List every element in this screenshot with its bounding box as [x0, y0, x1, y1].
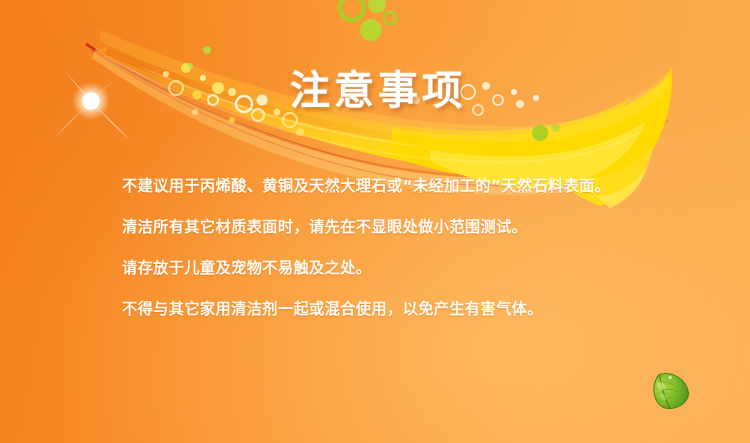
notice-list: 不建议用于丙烯酸、黄铜及天然大理石或“未经加工的”天然石料表面。 清洁所有其它材…	[122, 176, 682, 320]
banner-title: 注意事项	[290, 71, 466, 111]
notice-item-1: 不建议用于丙烯酸、黄铜及天然大理石或“未经加工的”天然石料表面。	[122, 176, 667, 197]
notice-item-3: 请存放于儿童及宠物不易触及之处。	[122, 258, 682, 279]
notice-item-4: 不得与其它家用清洁剂一起或混合使用，以免产生有害气体。	[122, 299, 682, 320]
notice-item-2: 清洁所有其它材质表面时，请先在不显眼处做小范围测试。	[122, 217, 682, 238]
notice-banner: 注意事项 不建议用于丙烯酸、黄铜及天然大理石或“未经加工的”天然石料表面。 清洁…	[0, 0, 750, 443]
green-leaf-icon	[646, 367, 692, 413]
